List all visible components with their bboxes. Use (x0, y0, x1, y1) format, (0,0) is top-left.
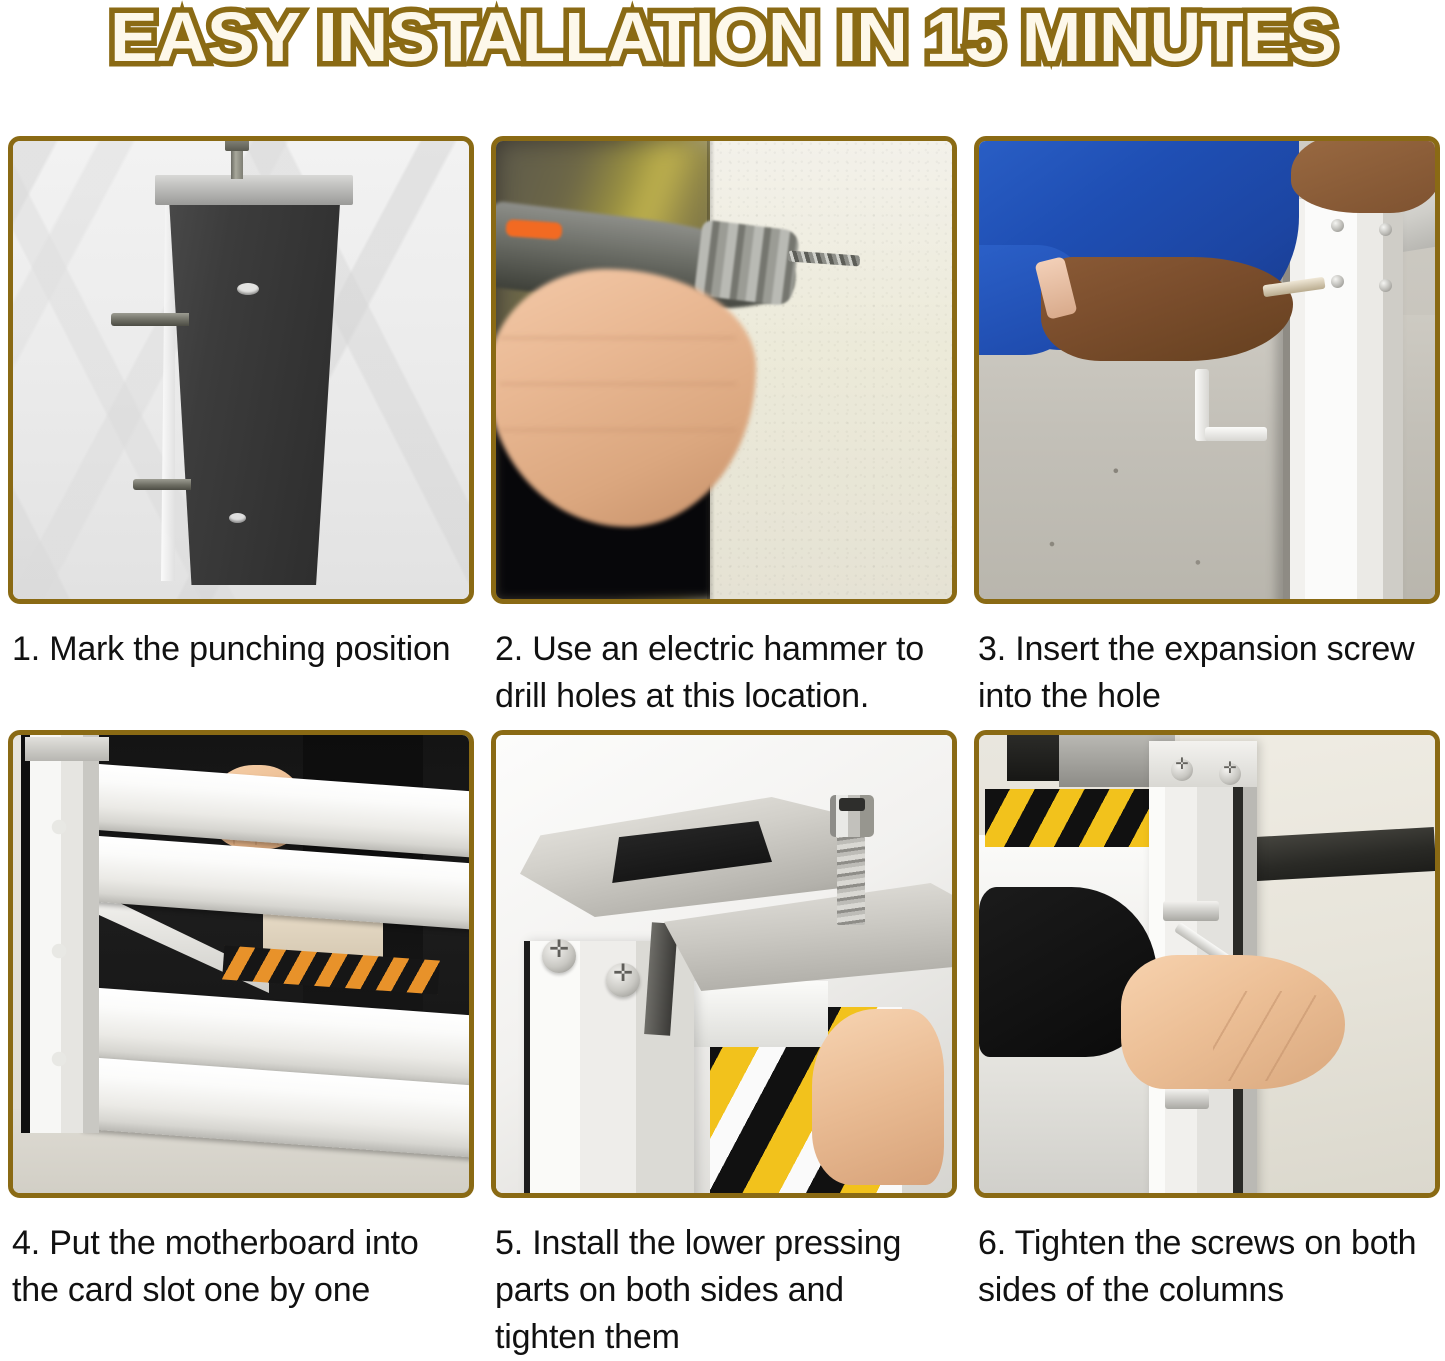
worker-second-hand (1291, 141, 1435, 213)
step-caption-2: 2. Use an electric hammer to drill holes… (491, 604, 957, 724)
column-screw-4 (1379, 279, 1392, 292)
infographic-page: EASY INSTALLATION IN 15 MINUTES 1. Mark … (0, 0, 1445, 1352)
white-board-edge (684, 981, 828, 1047)
step-card-6: 6. Tighten the screws on both sides of t… (974, 730, 1440, 1361)
step-photo-frame-3 (974, 136, 1440, 604)
bolt-threaded-shaft (837, 833, 865, 925)
pressing-bolt (828, 795, 872, 925)
step-card-1: 1. Mark the punching position (8, 136, 474, 724)
step-card-5: 5. Install the lower pressing parts on b… (491, 730, 957, 1361)
pressing-screw-2 (606, 963, 640, 997)
steps-grid: 1. Mark the punching position 2. Use an … (8, 136, 1440, 1361)
hand-fingers (500, 337, 736, 523)
step-caption-5: 5. Install the lower pressing parts on b… (491, 1198, 957, 1361)
column-screw-2 (1379, 223, 1392, 236)
step-card-2: 2. Use an electric hammer to drill holes… (491, 136, 957, 724)
mid-bolt (1163, 901, 1219, 921)
side-bolt-upper (111, 313, 189, 326)
column-screw-3 (1331, 275, 1344, 288)
channel-top-bracket (25, 737, 109, 761)
bolt-head (225, 141, 249, 151)
allen-key-on-floor (1195, 369, 1209, 441)
step-photo-frame-5 (491, 730, 957, 1198)
step-caption-3: 3. Insert the expansion screw into the h… (974, 604, 1440, 724)
hand-fingers (1213, 991, 1343, 1081)
bracket-hole-lower (229, 513, 246, 523)
step-photo-frame-2 (491, 136, 957, 604)
step-photo-frame-6 (974, 730, 1440, 1198)
side-bolt-lower (133, 479, 191, 490)
lower-bolt (1165, 1089, 1209, 1109)
bracket-hole-upper (237, 283, 259, 295)
step-image-3 (979, 141, 1435, 599)
installer-fingers (812, 1009, 944, 1185)
step-image-2 (496, 141, 952, 599)
mounting-bracket (163, 187, 341, 585)
step-caption-6: 6. Tighten the screws on both sides of t… (974, 1198, 1440, 1318)
column-screw-1 (1331, 219, 1344, 232)
hazard-stripe-tape (985, 789, 1153, 847)
upper-dark-gap (1007, 735, 1067, 781)
channel-screws (51, 735, 67, 1133)
drill-chuck (694, 219, 801, 306)
title-banner: EASY INSTALLATION IN 15 MINUTES (0, 0, 1445, 90)
step-image-1 (13, 141, 469, 599)
step-image-5 (496, 735, 952, 1193)
step-photo-frame-4 (8, 730, 474, 1198)
step-card-3: 3. Insert the expansion screw into the h… (974, 136, 1440, 724)
column-screw-2 (1219, 763, 1241, 785)
column-screw-1 (1171, 759, 1193, 781)
step-caption-4: 4. Put the motherboard into the card slo… (8, 1198, 474, 1318)
step-image-4 (13, 735, 469, 1193)
worker-arm (1041, 257, 1293, 361)
step-image-6 (979, 735, 1435, 1193)
pressing-screw-1 (542, 939, 576, 973)
bracket-top-cap (155, 175, 353, 205)
page-title: EASY INSTALLATION IN 15 MINUTES (110, 0, 1336, 74)
step-card-4: 4. Put the motherboard into the card slo… (8, 730, 474, 1361)
step-caption-1: 1. Mark the punching position (8, 604, 474, 724)
white-column (1283, 199, 1403, 599)
step-photo-frame-1 (8, 136, 474, 604)
bolt-hex-head (830, 795, 874, 837)
